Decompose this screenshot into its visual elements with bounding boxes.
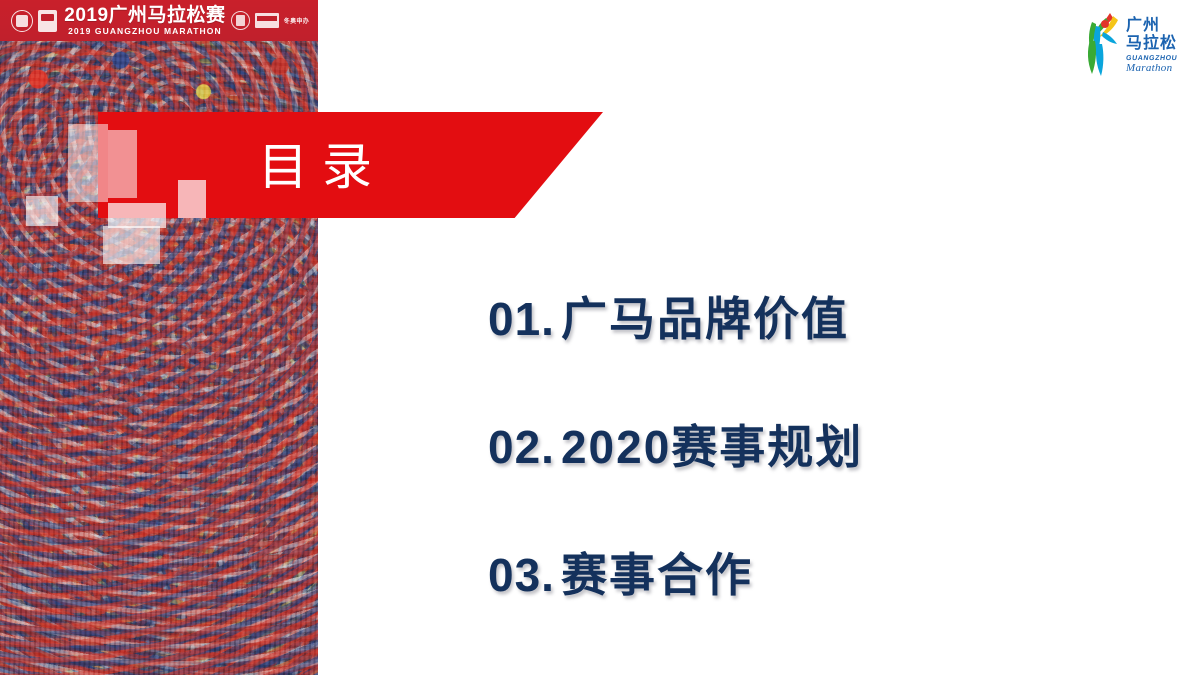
logo-wordmark: 广州 马拉松 GUANGZHOU Marathon [1126, 18, 1177, 74]
toc-label: 赛事合作 [561, 539, 753, 605]
logo-cn-line1: 广州 [1126, 18, 1177, 34]
guangzhou-marathon-logo: 广州 马拉松 GUANGZHOU Marathon [1080, 8, 1186, 88]
sponsor-logos-left [0, 10, 57, 32]
event-title-block: 2019广州马拉松赛 2019 GUANGZHOU MARATHON [57, 6, 231, 36]
toc-item-01[interactable]: 01. 广马品牌价值 [488, 283, 1148, 411]
event-title-en: 2019 GUANGZHOU MARATHON [59, 27, 231, 36]
toc-item-03[interactable]: 03. 赛事合作 [488, 539, 1148, 667]
sponsor-seal-icon [231, 11, 250, 30]
runner-figure-icon [1080, 10, 1128, 80]
table-of-contents: 01. 广马品牌价值 02. 2020赛事规划 03. 赛事合作 [488, 283, 1148, 667]
event-header-banner: 2019广州马拉松赛 2019 GUANGZHOU MARATHON 冬奥申办 [0, 0, 318, 41]
toc-number: 03. [488, 548, 555, 602]
toc-label: 广马品牌价值 [561, 283, 849, 349]
page-title: 目录 [258, 138, 386, 192]
toc-number: 01. [488, 292, 555, 346]
sponsor-word: 冬奥申办 [284, 16, 309, 25]
section-title-banner: 目录 [98, 112, 603, 218]
toc-label: 2020赛事规划 [561, 411, 863, 477]
sponsor-plate-icon [255, 13, 279, 28]
slide-canvas: 2019广州马拉松赛 2019 GUANGZHOU MARATHON 冬奥申办 … [0, 0, 1200, 675]
sponsor-logos-right: 冬奥申办 [231, 11, 318, 30]
event-title-cn: 2019广州马拉松赛 [59, 6, 231, 25]
logo-en-line2: Marathon [1126, 63, 1177, 74]
toc-item-02[interactable]: 02. 2020赛事规划 [488, 411, 1148, 539]
logo-en-line1: GUANGZHOU [1126, 55, 1178, 62]
marathon-crowd-photo: 2019广州马拉松赛 2019 GUANGZHOU MARATHON 冬奥申办 [0, 0, 318, 675]
sponsor-card-icon [38, 10, 57, 32]
toc-number: 02. [488, 420, 555, 474]
sponsor-badge-icon [11, 10, 33, 32]
logo-cn-line2: 马拉松 [1126, 36, 1177, 52]
